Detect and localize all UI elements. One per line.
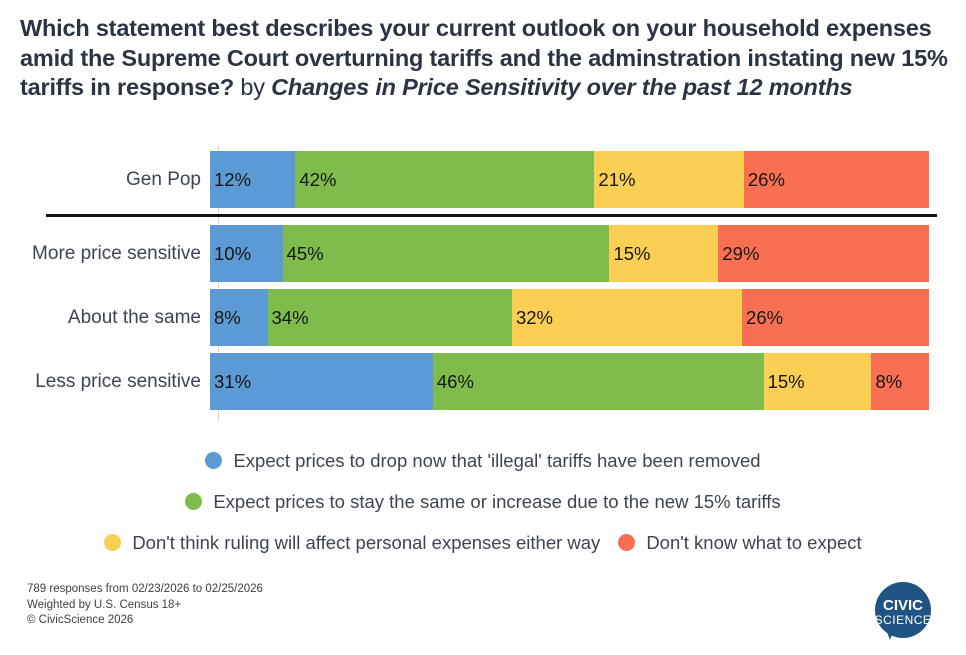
legend-row: Expect prices to stay the same or increa… <box>0 481 966 522</box>
bar-segment[interactable]: 10% <box>210 225 283 282</box>
legend-row: Don't think ruling will affect personal … <box>0 522 966 563</box>
bar-segment-label: 26% <box>744 169 785 191</box>
bar-segment-label: 45% <box>283 243 324 265</box>
bar-segment-label: 42% <box>295 169 336 191</box>
footer-copyright: © CivicScience 2026 <box>27 613 263 629</box>
footer-responses: 789 responses from 02/23/2026 to 02/25/2… <box>27 582 263 598</box>
footer-notes: 789 responses from 02/23/2026 to 02/25/2… <box>27 582 263 629</box>
bar-row-label: Gen Pop <box>0 169 210 191</box>
bar-segment[interactable]: 29% <box>718 225 929 282</box>
bar-segment-label: 21% <box>594 169 635 191</box>
bar-segment[interactable]: 42% <box>295 151 594 208</box>
legend-label: Expect prices to stay the same or increa… <box>213 491 780 513</box>
bar-segment-label: 8% <box>210 307 241 329</box>
legend-swatch-icon <box>618 534 635 551</box>
bar-segment-label: 15% <box>609 243 650 265</box>
bar-segment[interactable]: 21% <box>594 151 743 208</box>
legend-item[interactable]: Expect prices to stay the same or increa… <box>185 491 780 513</box>
logo-line-1: CIVIC <box>883 597 923 614</box>
bar-segment-label: 46% <box>433 371 474 393</box>
bar-segment[interactable]: 26% <box>742 289 929 346</box>
bar-segment[interactable]: 34% <box>268 289 512 346</box>
bar-segment[interactable]: 8% <box>871 353 929 410</box>
legend-label: Expect prices to drop now that 'illegal'… <box>233 450 760 472</box>
bar-segment[interactable]: 26% <box>744 151 929 208</box>
bar-segment-label: 12% <box>210 169 251 191</box>
legend-swatch-icon <box>185 493 202 510</box>
legend-item[interactable]: Don't think ruling will affect personal … <box>104 532 600 554</box>
bar-segment[interactable]: 45% <box>283 225 610 282</box>
legend-label: Don't know what to expect <box>646 532 861 554</box>
bar-segment[interactable]: 31% <box>210 353 433 410</box>
logo-line-2: SCIENCE <box>875 613 932 627</box>
legend-row: Expect prices to drop now that 'illegal'… <box>0 440 966 481</box>
bar-segment[interactable]: 15% <box>764 353 872 410</box>
chart-legend: Expect prices to drop now that 'illegal'… <box>0 440 966 563</box>
footer-weighting: Weighted by U.S. Census 18+ <box>27 598 263 614</box>
chart-title: Which statement best describes your curr… <box>20 14 950 103</box>
stacked-bar: 12%42%21%26% <box>210 151 929 208</box>
plot-area: Gen Pop12%42%21%26%More price sensitive1… <box>0 146 966 421</box>
table-row: More price sensitive10%45%15%29% <box>0 225 966 282</box>
bar-segment[interactable]: 32% <box>512 289 742 346</box>
bar-segment-label: 34% <box>268 307 309 329</box>
stacked-bar: 31%46%15%8% <box>210 353 929 410</box>
bar-segment-label: 32% <box>512 307 553 329</box>
legend-swatch-icon <box>104 534 121 551</box>
bar-row-label: About the same <box>0 307 210 329</box>
civicscience-logo-icon: CIVIC SCIENCE <box>866 579 938 651</box>
chart-title-connector: by <box>234 74 271 100</box>
civicscience-logo: CIVIC SCIENCE <box>866 579 938 651</box>
chart-title-segmentation: Changes in Price Sensitivity over the pa… <box>271 74 852 100</box>
bar-row-label: More price sensitive <box>0 243 210 265</box>
table-row: About the same8%34%32%26% <box>0 289 966 346</box>
bar-segment[interactable]: 15% <box>609 225 718 282</box>
bar-segment-label: 10% <box>210 243 251 265</box>
bar-segment[interactable]: 12% <box>210 151 295 208</box>
legend-item[interactable]: Don't know what to expect <box>618 532 861 554</box>
bar-row-label: Less price sensitive <box>0 371 210 393</box>
gen-pop-divider <box>46 214 937 217</box>
legend-label: Don't think ruling will affect personal … <box>132 532 600 554</box>
bar-segment[interactable]: 8% <box>210 289 268 346</box>
stacked-bar: 10%45%15%29% <box>210 225 929 282</box>
bar-segment-label: 8% <box>871 371 902 393</box>
bar-segment-label: 26% <box>742 307 783 329</box>
legend-item[interactable]: Expect prices to drop now that 'illegal'… <box>205 450 760 472</box>
legend-swatch-icon <box>205 452 222 469</box>
bar-segment-label: 31% <box>210 371 251 393</box>
chart-canvas: Which statement best describes your curr… <box>0 0 966 655</box>
table-row: Less price sensitive31%46%15%8% <box>0 353 966 410</box>
bar-segment-label: 15% <box>764 371 805 393</box>
table-row: Gen Pop12%42%21%26% <box>0 151 966 208</box>
stacked-bar: 8%34%32%26% <box>210 289 929 346</box>
bar-segment-label: 29% <box>718 243 759 265</box>
bar-segment[interactable]: 46% <box>433 353 764 410</box>
